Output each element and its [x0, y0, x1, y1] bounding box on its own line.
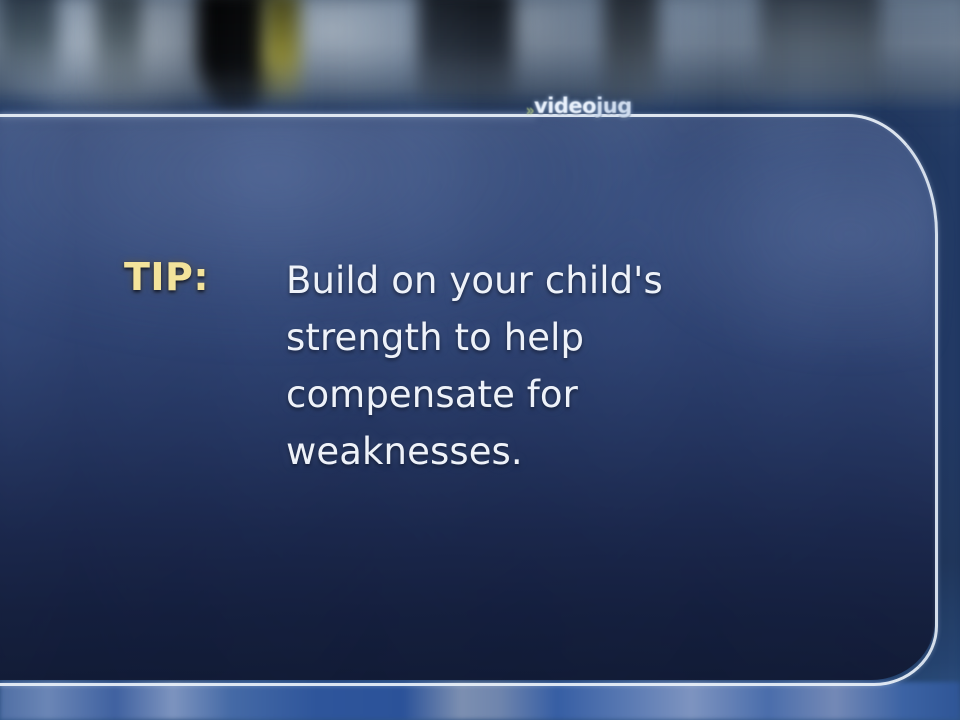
- tip-line: strength to help: [286, 309, 663, 366]
- tip-label: TIP:: [124, 258, 286, 296]
- tip-content: TIP: Build on your child's strength to h…: [124, 258, 663, 480]
- tip-line: compensate for: [286, 366, 663, 423]
- logo-text-jug: jug: [596, 94, 632, 118]
- videojug-logo[interactable]: » videojug: [525, 92, 632, 120]
- video-frame: » videojug TIP: Build on your child's st…: [0, 0, 960, 720]
- double-chevron-icon: »: [526, 101, 532, 121]
- background-bottom-band: [0, 682, 960, 720]
- tip-line: Build on your child's: [286, 252, 663, 309]
- tip-body-text: Build on your child's strength to help c…: [286, 252, 663, 480]
- logo-text-video: video: [534, 94, 596, 118]
- tip-line: weaknesses.: [286, 423, 663, 480]
- videojug-wordmark: videojug: [534, 96, 632, 117]
